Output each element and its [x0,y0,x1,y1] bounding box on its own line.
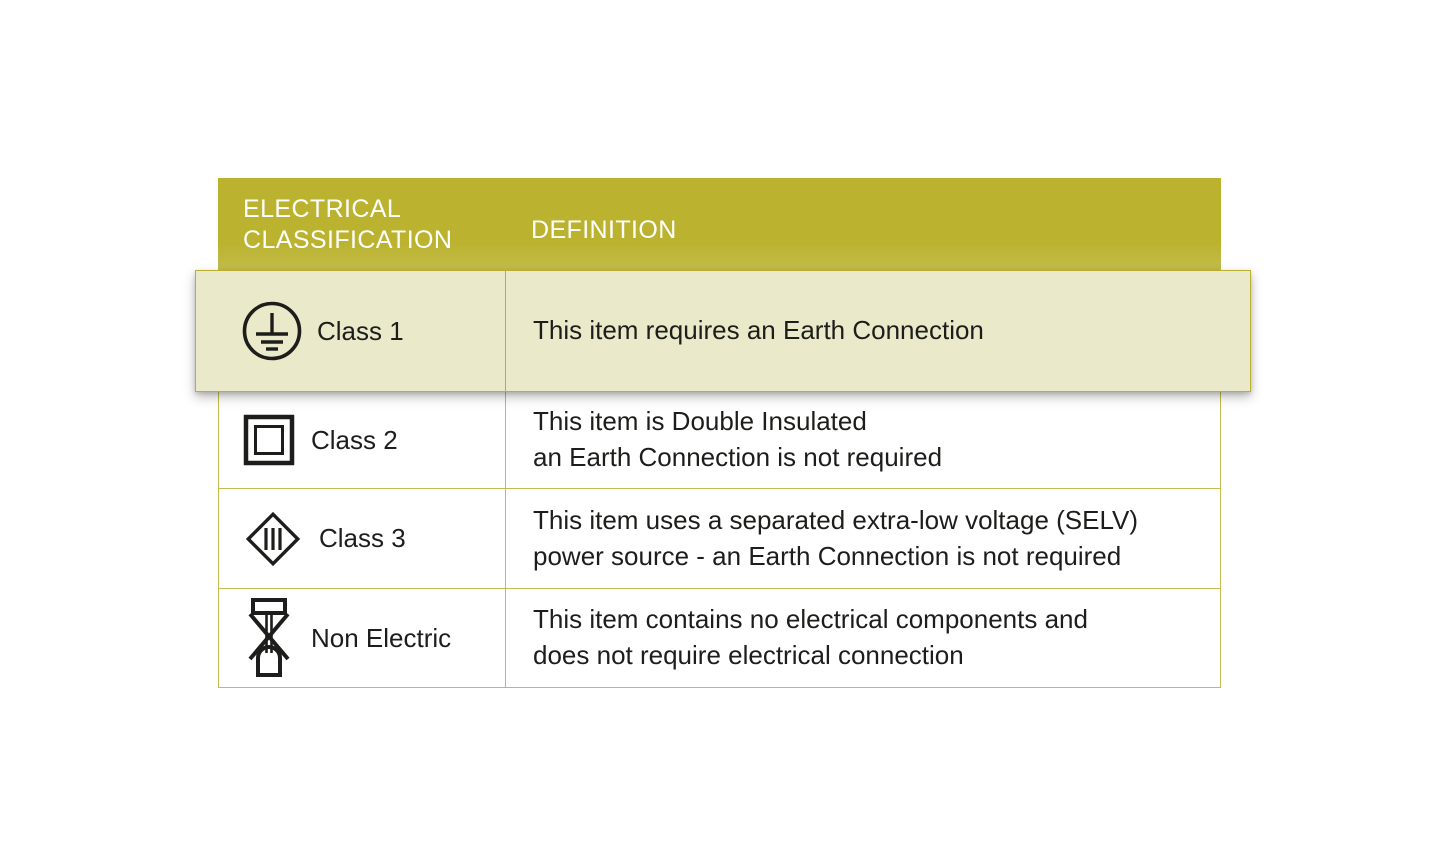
definition-line: This item requires an Earth Connection [533,313,1250,349]
table-row-highlighted[interactable]: Class 1 This item requires an Earth Conn… [195,270,1251,392]
definition-line: an Earth Connection is not required [533,440,1220,476]
table-row[interactable]: Class 3 This item uses a separated extra… [219,489,1220,589]
classification-cell: Class 1 [196,271,506,391]
definition-line: does not require electrical connection [533,638,1220,674]
definition-line: This item uses a separated extra-low vol… [533,503,1220,539]
definition-line: This item contains no electrical compone… [533,602,1220,638]
classification-label: Non Electric [311,623,451,654]
table-header-row: ELECTRICAL CLASSIFICATION DEFINITION [218,178,1221,270]
definition-cell: This item uses a separated extra-low vol… [506,489,1220,588]
classification-cell: Class 2 [219,392,506,488]
column-header-electrical-classification: ELECTRICAL CLASSIFICATION [218,178,505,270]
definition-cell: This item contains no electrical compone… [506,589,1220,687]
classification-label: Class 1 [317,316,404,347]
classification-label: Class 2 [311,425,398,456]
table-row[interactable]: Class 2 This item is Double Insulated an… [219,392,1220,489]
earth-ground-symbol-icon [241,300,303,362]
column-header-definition: DEFINITION [505,178,1221,270]
classification-cell: Class 3 [219,489,506,588]
definition-cell: This item is Double Insulated an Earth C… [506,392,1220,488]
table-row[interactable]: Non Electric This item contains no elect… [219,589,1220,687]
classification-label: Class 3 [319,523,406,554]
electrical-classification-table: ELECTRICAL CLASSIFICATION DEFINITION Cla… [218,178,1221,688]
definition-cell: This item requires an Earth Connection [506,271,1250,391]
diamond-three-bars-icon [241,507,305,571]
definition-line: This item is Double Insulated [533,404,1220,440]
column-header-line-1: ELECTRICAL [243,194,505,225]
definition-line: power source - an Earth Connection is no… [533,539,1220,575]
classification-cell: Non Electric [219,589,506,687]
column-header-line-2: CLASSIFICATION [243,225,505,256]
crossed-out-plug-icon [241,595,297,681]
double-square-insulation-icon [241,412,297,468]
